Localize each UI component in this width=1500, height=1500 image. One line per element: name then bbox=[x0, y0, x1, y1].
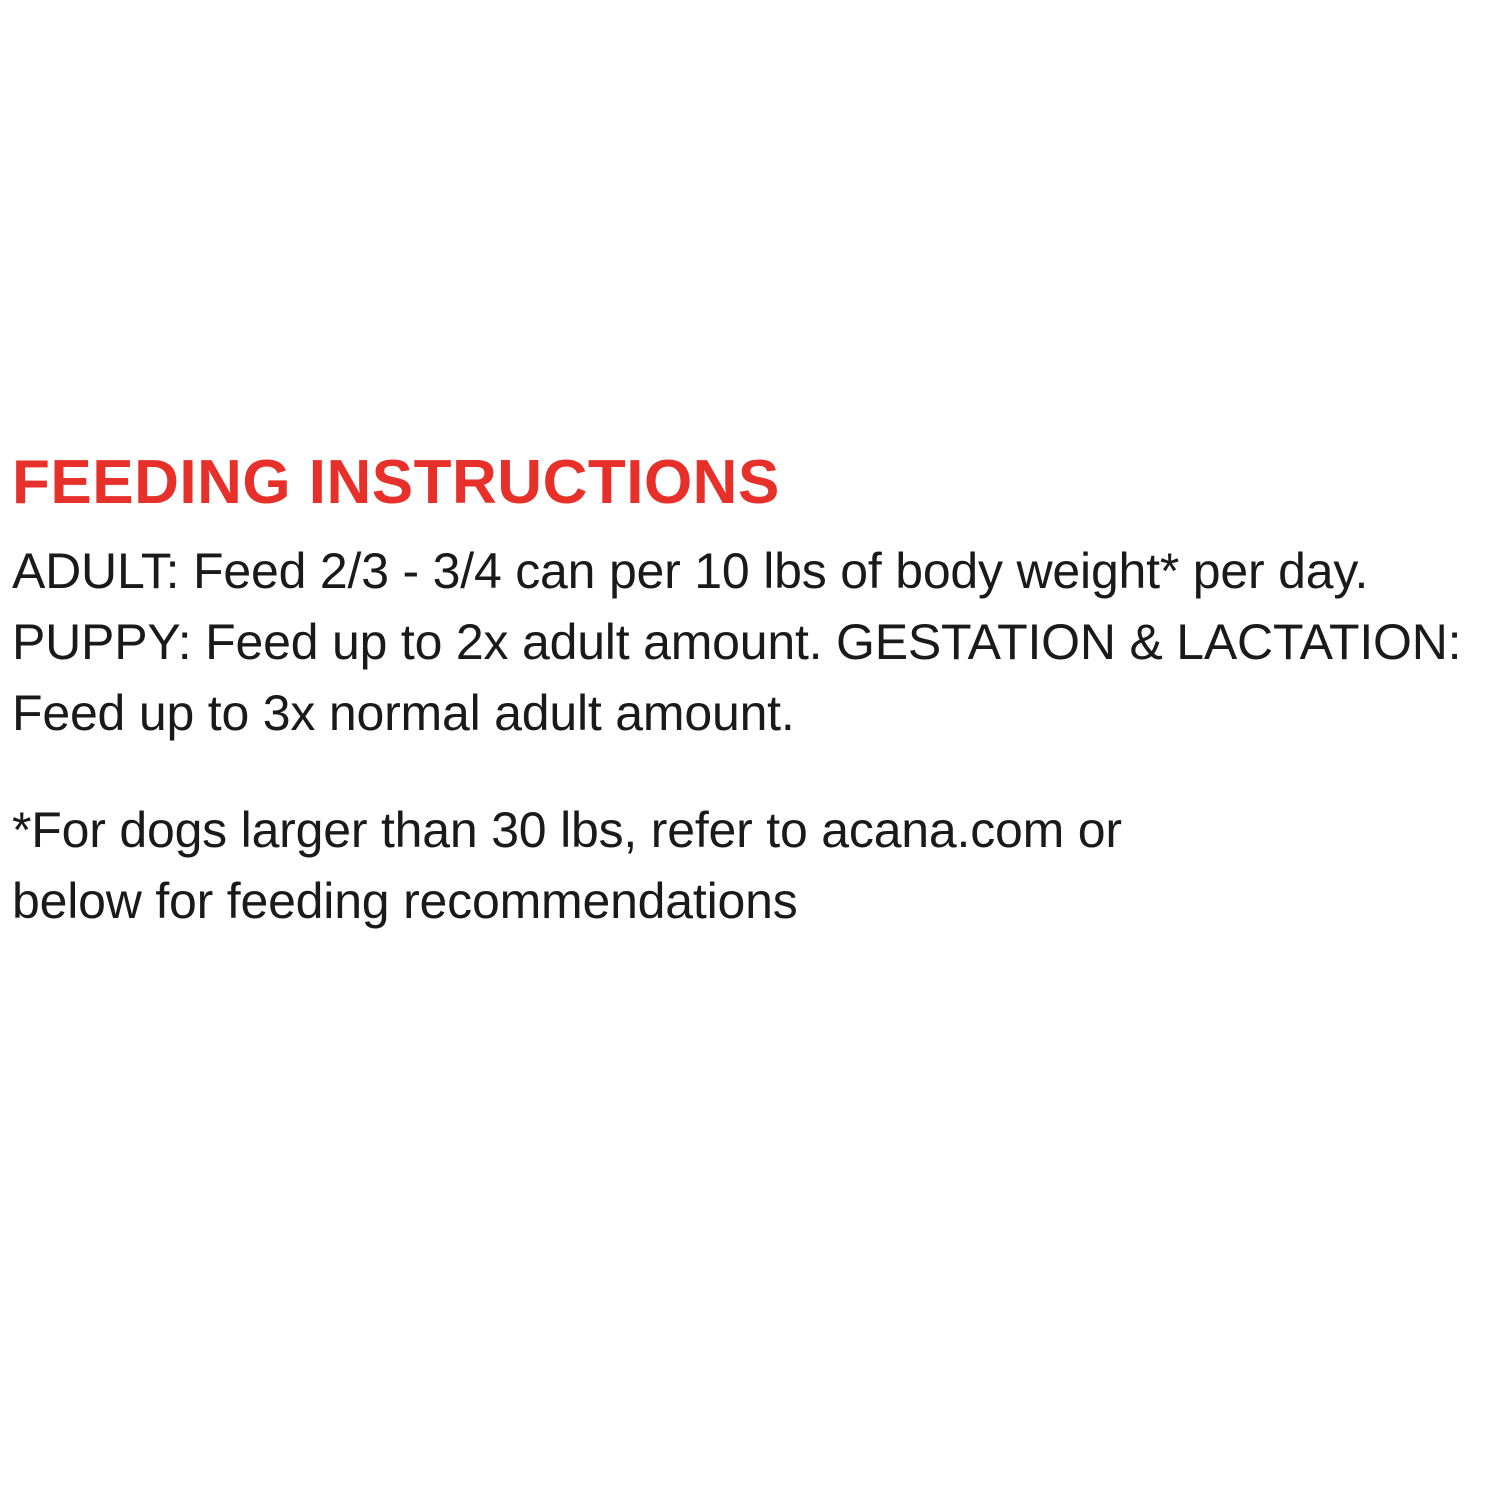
feeding-footnote: *For dogs larger than 30 lbs, refer to a… bbox=[12, 795, 1492, 937]
footnote-line-2: below for feeding recommendations bbox=[12, 866, 1492, 937]
footnote-line-1: *For dogs larger than 30 lbs, refer to a… bbox=[12, 802, 1122, 858]
feeding-instructions-text: ADULT: Feed 2/3 - 3/4 can per 10 lbs of … bbox=[12, 536, 1492, 749]
feeding-instructions-content: FEEDING INSTRUCTIONS ADULT: Feed 2/3 - 3… bbox=[12, 452, 1500, 937]
page-title: FEEDING INSTRUCTIONS bbox=[12, 452, 1500, 514]
feeding-instructions-panel: FEEDING INSTRUCTIONS ADULT: Feed 2/3 - 3… bbox=[0, 0, 1500, 1500]
